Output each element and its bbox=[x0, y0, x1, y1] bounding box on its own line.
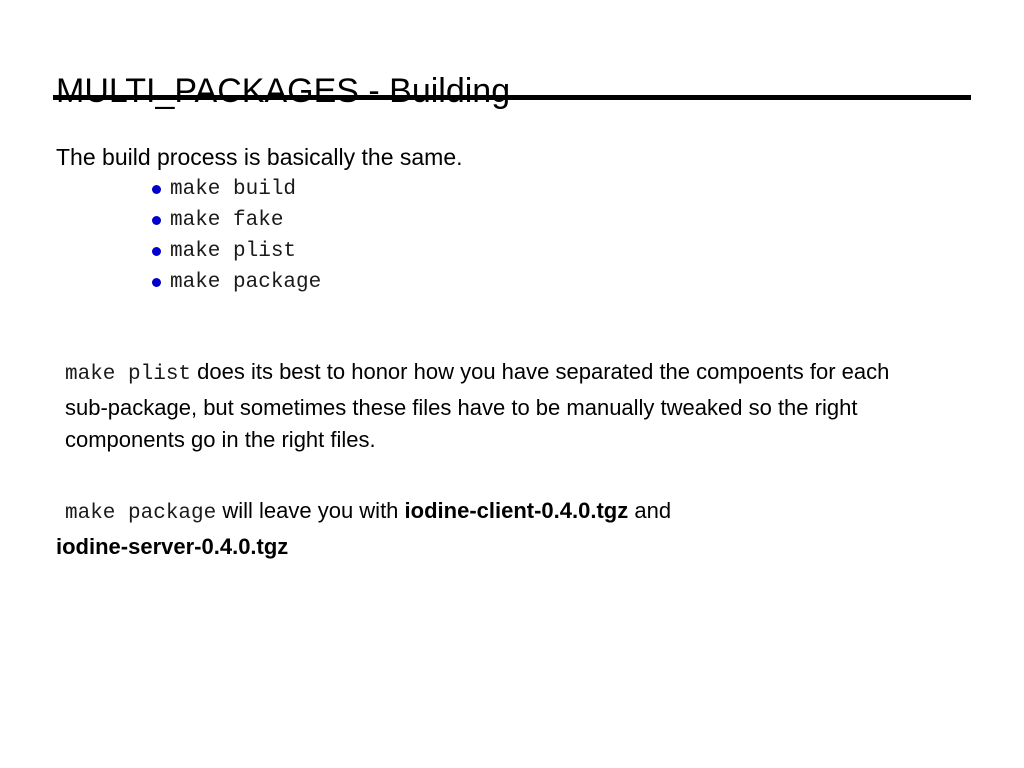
paragraph-package-text: will leave you with bbox=[216, 498, 404, 523]
intro-text: The build process is basically the same. bbox=[56, 143, 463, 171]
inline-command-plist: make plist bbox=[65, 363, 191, 386]
command-label: make build bbox=[170, 178, 296, 202]
list-item: make package bbox=[148, 267, 321, 298]
bullet-dot-icon bbox=[152, 216, 161, 225]
list-item: make fake bbox=[148, 205, 321, 236]
slide: MULTI_PACKAGES - Building The build proc… bbox=[0, 0, 1024, 768]
artifact-client: iodine-client-0.4.0.tgz bbox=[405, 498, 629, 523]
command-label: make package bbox=[170, 271, 321, 295]
command-list: make build make fake make plist make pac… bbox=[148, 174, 321, 298]
paragraph-package-conjunction: and bbox=[628, 498, 671, 523]
artifact-server: iodine-server-0.4.0.tgz bbox=[56, 531, 925, 564]
bullet-dot-icon bbox=[152, 185, 161, 194]
inline-command-package: make package bbox=[65, 502, 216, 525]
paragraph-package: make package will leave you with iodine-… bbox=[65, 495, 925, 563]
bullet-dot-icon bbox=[152, 278, 161, 287]
bullet-dot-icon bbox=[152, 247, 161, 256]
command-label: make fake bbox=[170, 209, 283, 233]
list-item: make plist bbox=[148, 236, 321, 267]
list-item: make build bbox=[148, 174, 321, 205]
slide-body: The build process is basically the same.… bbox=[0, 0, 1024, 768]
paragraph-plist: make plist does its best to honor how yo… bbox=[65, 356, 925, 457]
command-label: make plist bbox=[170, 240, 296, 264]
